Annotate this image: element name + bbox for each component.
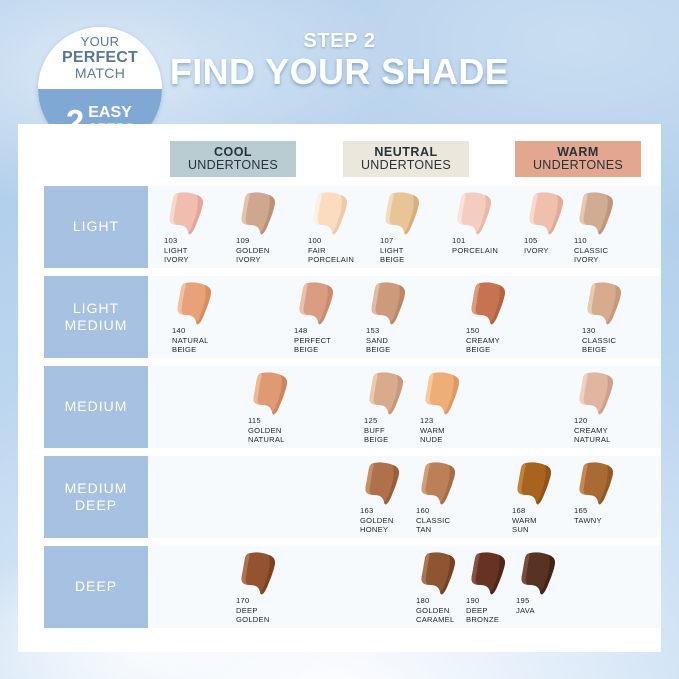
- shade-row-label-line: MEDIUM: [65, 398, 128, 415]
- shade-swatch-cell[interactable]: 195JAVA: [512, 546, 586, 628]
- shade-number: 153: [366, 326, 436, 336]
- foundation-swatch-icon: [416, 461, 464, 507]
- shade-caption: 101PORCELAIN: [452, 236, 522, 255]
- shade-swatch-cell[interactable]: 160CLASSICTAN: [412, 456, 486, 538]
- shade-caption: 120CREAMYNATURAL: [574, 416, 644, 445]
- shade-name-line: IVORY: [164, 255, 234, 265]
- foundation-swatch-icon: [512, 461, 560, 507]
- foundation-swatch-icon: [294, 281, 342, 327]
- shade-row: DEEP170DEEPGOLDEN180GOLDENCARAMEL190DEEP…: [18, 546, 661, 628]
- shade-number: 170: [236, 596, 306, 606]
- shade-name-line: LIGHT: [164, 246, 234, 256]
- foundation-swatch-icon: [452, 191, 500, 237]
- shade-swatch-cell[interactable]: 109GOLDENIVORY: [232, 186, 306, 268]
- shade-number: 165: [574, 506, 644, 516]
- shade-name-line: TAWNY: [574, 516, 644, 526]
- column-header-neutral: NEUTRAL UNDERTONES: [343, 141, 469, 177]
- shade-swatch-cell[interactable]: 170DEEPGOLDEN: [232, 546, 306, 628]
- shade-name-line: JAVA: [516, 606, 586, 616]
- shade-row-label: DEEP: [44, 546, 148, 628]
- shade-number: 120: [574, 416, 644, 426]
- shade-swatch-cell[interactable]: 103LIGHTIVORY: [160, 186, 234, 268]
- shade-caption: 140NATURALBEIGE: [172, 326, 242, 355]
- shade-number: 103: [164, 236, 234, 246]
- shade-number: 100: [308, 236, 378, 246]
- shade-name-line: IVORY: [236, 255, 306, 265]
- shade-swatch-cell[interactable]: 130CLASSICBEIGE: [578, 276, 652, 358]
- shade-swatch-cell[interactable]: 153SANDBEIGE: [362, 276, 436, 358]
- foundation-swatch-icon: [360, 461, 408, 507]
- shade-caption: 100FAIRPORCELAIN: [308, 236, 378, 265]
- badge-line-easy: EASY: [88, 105, 134, 121]
- shade-name-line: BEIGE: [466, 345, 536, 355]
- shade-row-label-line: MEDIUM: [65, 317, 128, 334]
- foundation-swatch-icon: [466, 551, 514, 597]
- foundation-swatch-icon: [364, 371, 412, 417]
- foundation-swatch-icon: [574, 191, 622, 237]
- shade-name-line: BEIGE: [582, 345, 652, 355]
- shade-name-line: CLASSIC: [574, 246, 644, 256]
- shade-caption: 160CLASSICTAN: [416, 506, 486, 535]
- shade-name-line: BEIGE: [294, 345, 364, 355]
- shade-swatch-cell[interactable]: 148PERFECTBEIGE: [290, 276, 364, 358]
- column-header-cool-title: COOL: [214, 146, 252, 159]
- column-header-warm-title: WARM: [557, 146, 599, 159]
- shade-number: 115: [248, 416, 318, 426]
- shade-row: MEDIUM115GOLDENNATURAL125BUFFBEIGE123WAR…: [18, 366, 661, 448]
- foundation-swatch-icon: [380, 191, 428, 237]
- shade-name-line: DEEP: [236, 606, 306, 616]
- shade-name-line: TAN: [416, 525, 486, 535]
- badge-line-your: YOUR: [81, 35, 120, 49]
- column-header-neutral-subtitle: UNDERTONES: [361, 159, 451, 172]
- shade-caption: 110CLASSICIVORY: [574, 236, 644, 265]
- shade-caption: 195JAVA: [516, 596, 586, 615]
- foundation-swatch-icon: [172, 281, 220, 327]
- shade-row-label-line: DEEP: [75, 578, 117, 595]
- badge-line-perfect: PERFECT: [62, 49, 138, 66]
- foundation-swatch-icon: [574, 461, 622, 507]
- shade-swatch-cell[interactable]: 140NATURALBEIGE: [168, 276, 242, 358]
- shade-number: 150: [466, 326, 536, 336]
- shade-caption: 170DEEPGOLDEN: [236, 596, 306, 625]
- shade-name-line: BEIGE: [366, 345, 436, 355]
- shade-row: MEDIUMDEEP163GOLDENHONEY160CLASSICTAN168…: [18, 456, 661, 538]
- foundation-swatch-icon: [516, 551, 564, 597]
- shade-name-line: BEIGE: [172, 345, 242, 355]
- shade-caption: 130CLASSICBEIGE: [582, 326, 652, 355]
- shade-swatch-cell[interactable]: 123WARMNUDE: [416, 366, 490, 448]
- shade-caption: 165TAWNY: [574, 506, 644, 525]
- shade-number: 195: [516, 596, 586, 606]
- shade-swatch-cell[interactable]: 150CREAMYBEIGE: [462, 276, 536, 358]
- shade-name-line: NATURAL: [172, 336, 242, 346]
- badge-top-half: YOUR PERFECT MATCH: [38, 27, 162, 89]
- shade-name-line: GOLDEN: [236, 615, 306, 625]
- shade-number: 130: [582, 326, 652, 336]
- shade-row: LIGHT103LIGHTIVORY109GOLDENIVORY100FAIRP…: [18, 186, 661, 268]
- shade-name-line: CLASSIC: [416, 516, 486, 526]
- shade-name-line: SAND: [366, 336, 436, 346]
- shade-caption: 107LIGHTBEIGE: [380, 236, 450, 265]
- shade-name-line: WARM: [420, 426, 490, 436]
- shade-number: 160: [416, 506, 486, 516]
- foundation-swatch-icon: [236, 551, 284, 597]
- foundation-swatch-icon: [420, 371, 468, 417]
- column-header-neutral-title: NEUTRAL: [374, 146, 437, 159]
- shade-number: 148: [294, 326, 364, 336]
- shade-swatch-cell[interactable]: 100FAIRPORCELAIN: [304, 186, 378, 268]
- shade-name-line: NATURAL: [574, 435, 644, 445]
- shade-swatch-cell[interactable]: 101PORCELAIN: [448, 186, 522, 268]
- foundation-swatch-icon: [466, 281, 514, 327]
- shade-name-line: PORCELAIN: [308, 255, 378, 265]
- shade-row-label-line: LIGHT: [73, 300, 119, 317]
- badge-line-match: MATCH: [75, 66, 125, 81]
- shade-row-label: MEDIUMDEEP: [44, 456, 148, 538]
- shade-row-label: LIGHTMEDIUM: [44, 276, 148, 358]
- column-header-warm-subtitle: UNDERTONES: [533, 159, 623, 172]
- foundation-swatch-icon: [582, 281, 630, 327]
- shade-number: 110: [574, 236, 644, 246]
- shade-number: 107: [380, 236, 450, 246]
- shade-swatch-cell[interactable]: 115GOLDENNATURAL: [244, 366, 318, 448]
- shade-number: 123: [420, 416, 490, 426]
- shade-row-label-line: LIGHT: [73, 218, 119, 235]
- column-header-warm: WARM UNDERTONES: [515, 141, 641, 177]
- shade-name-line: BEIGE: [380, 255, 450, 265]
- shade-row-label-line: DEEP: [75, 497, 117, 514]
- foundation-swatch-icon: [416, 551, 464, 597]
- shade-caption: 115GOLDENNATURAL: [248, 416, 318, 445]
- foundation-swatch-icon: [366, 281, 414, 327]
- foundation-swatch-icon: [308, 191, 356, 237]
- shade-chart-panel: COOL UNDERTONES NEUTRAL UNDERTONES WARM …: [18, 124, 661, 652]
- shade-row-label: MEDIUM: [44, 366, 148, 448]
- shade-swatch-cell[interactable]: 110CLASSICIVORY: [570, 186, 644, 268]
- shade-caption: 150CREAMYBEIGE: [466, 326, 536, 355]
- shade-name-line: NUDE: [420, 435, 490, 445]
- shade-caption: 103LIGHTIVORY: [164, 236, 234, 265]
- shade-caption: 153SANDBEIGE: [366, 326, 436, 355]
- shade-name-line: PERFECT: [294, 336, 364, 346]
- shade-caption: 148PERFECTBEIGE: [294, 326, 364, 355]
- shade-name-line: CREAMY: [466, 336, 536, 346]
- column-headers: COOL UNDERTONES NEUTRAL UNDERTONES WARM …: [18, 124, 661, 184]
- shade-swatch-cell[interactable]: 165TAWNY: [570, 456, 644, 538]
- column-header-cool: COOL UNDERTONES: [170, 141, 296, 177]
- shade-number: 140: [172, 326, 242, 336]
- foundation-swatch-icon: [574, 371, 622, 417]
- shade-caption: 109GOLDENIVORY: [236, 236, 306, 265]
- shade-number: 109: [236, 236, 306, 246]
- shade-name-line: LIGHT: [380, 246, 450, 256]
- shade-name-line: IVORY: [574, 255, 644, 265]
- foundation-swatch-icon: [164, 191, 212, 237]
- shade-name-line: PORCELAIN: [452, 246, 522, 256]
- shade-caption: 123WARMNUDE: [420, 416, 490, 445]
- foundation-swatch-icon: [248, 371, 296, 417]
- foundation-swatch-icon: [236, 191, 284, 237]
- shade-row: LIGHTMEDIUM140NATURALBEIGE148PERFECTBEIG…: [18, 276, 661, 358]
- shade-row-label: LIGHT: [44, 186, 148, 268]
- shade-swatch-cell[interactable]: 107LIGHTBEIGE: [376, 186, 450, 268]
- shade-name-line: GOLDEN: [248, 426, 318, 436]
- shade-name-line: CREAMY: [574, 426, 644, 436]
- shade-name-line: CLASSIC: [582, 336, 652, 346]
- shade-swatch-cell[interactable]: 120CREAMYNATURAL: [570, 366, 644, 448]
- foundation-swatch-icon: [524, 191, 572, 237]
- shade-name-line: NATURAL: [248, 435, 318, 445]
- column-header-cool-subtitle: UNDERTONES: [188, 159, 278, 172]
- shade-name-line: FAIR: [308, 246, 378, 256]
- shade-name-line: GOLDEN: [236, 246, 306, 256]
- shade-number: 101: [452, 236, 522, 246]
- shade-row-label-line: MEDIUM: [65, 480, 128, 497]
